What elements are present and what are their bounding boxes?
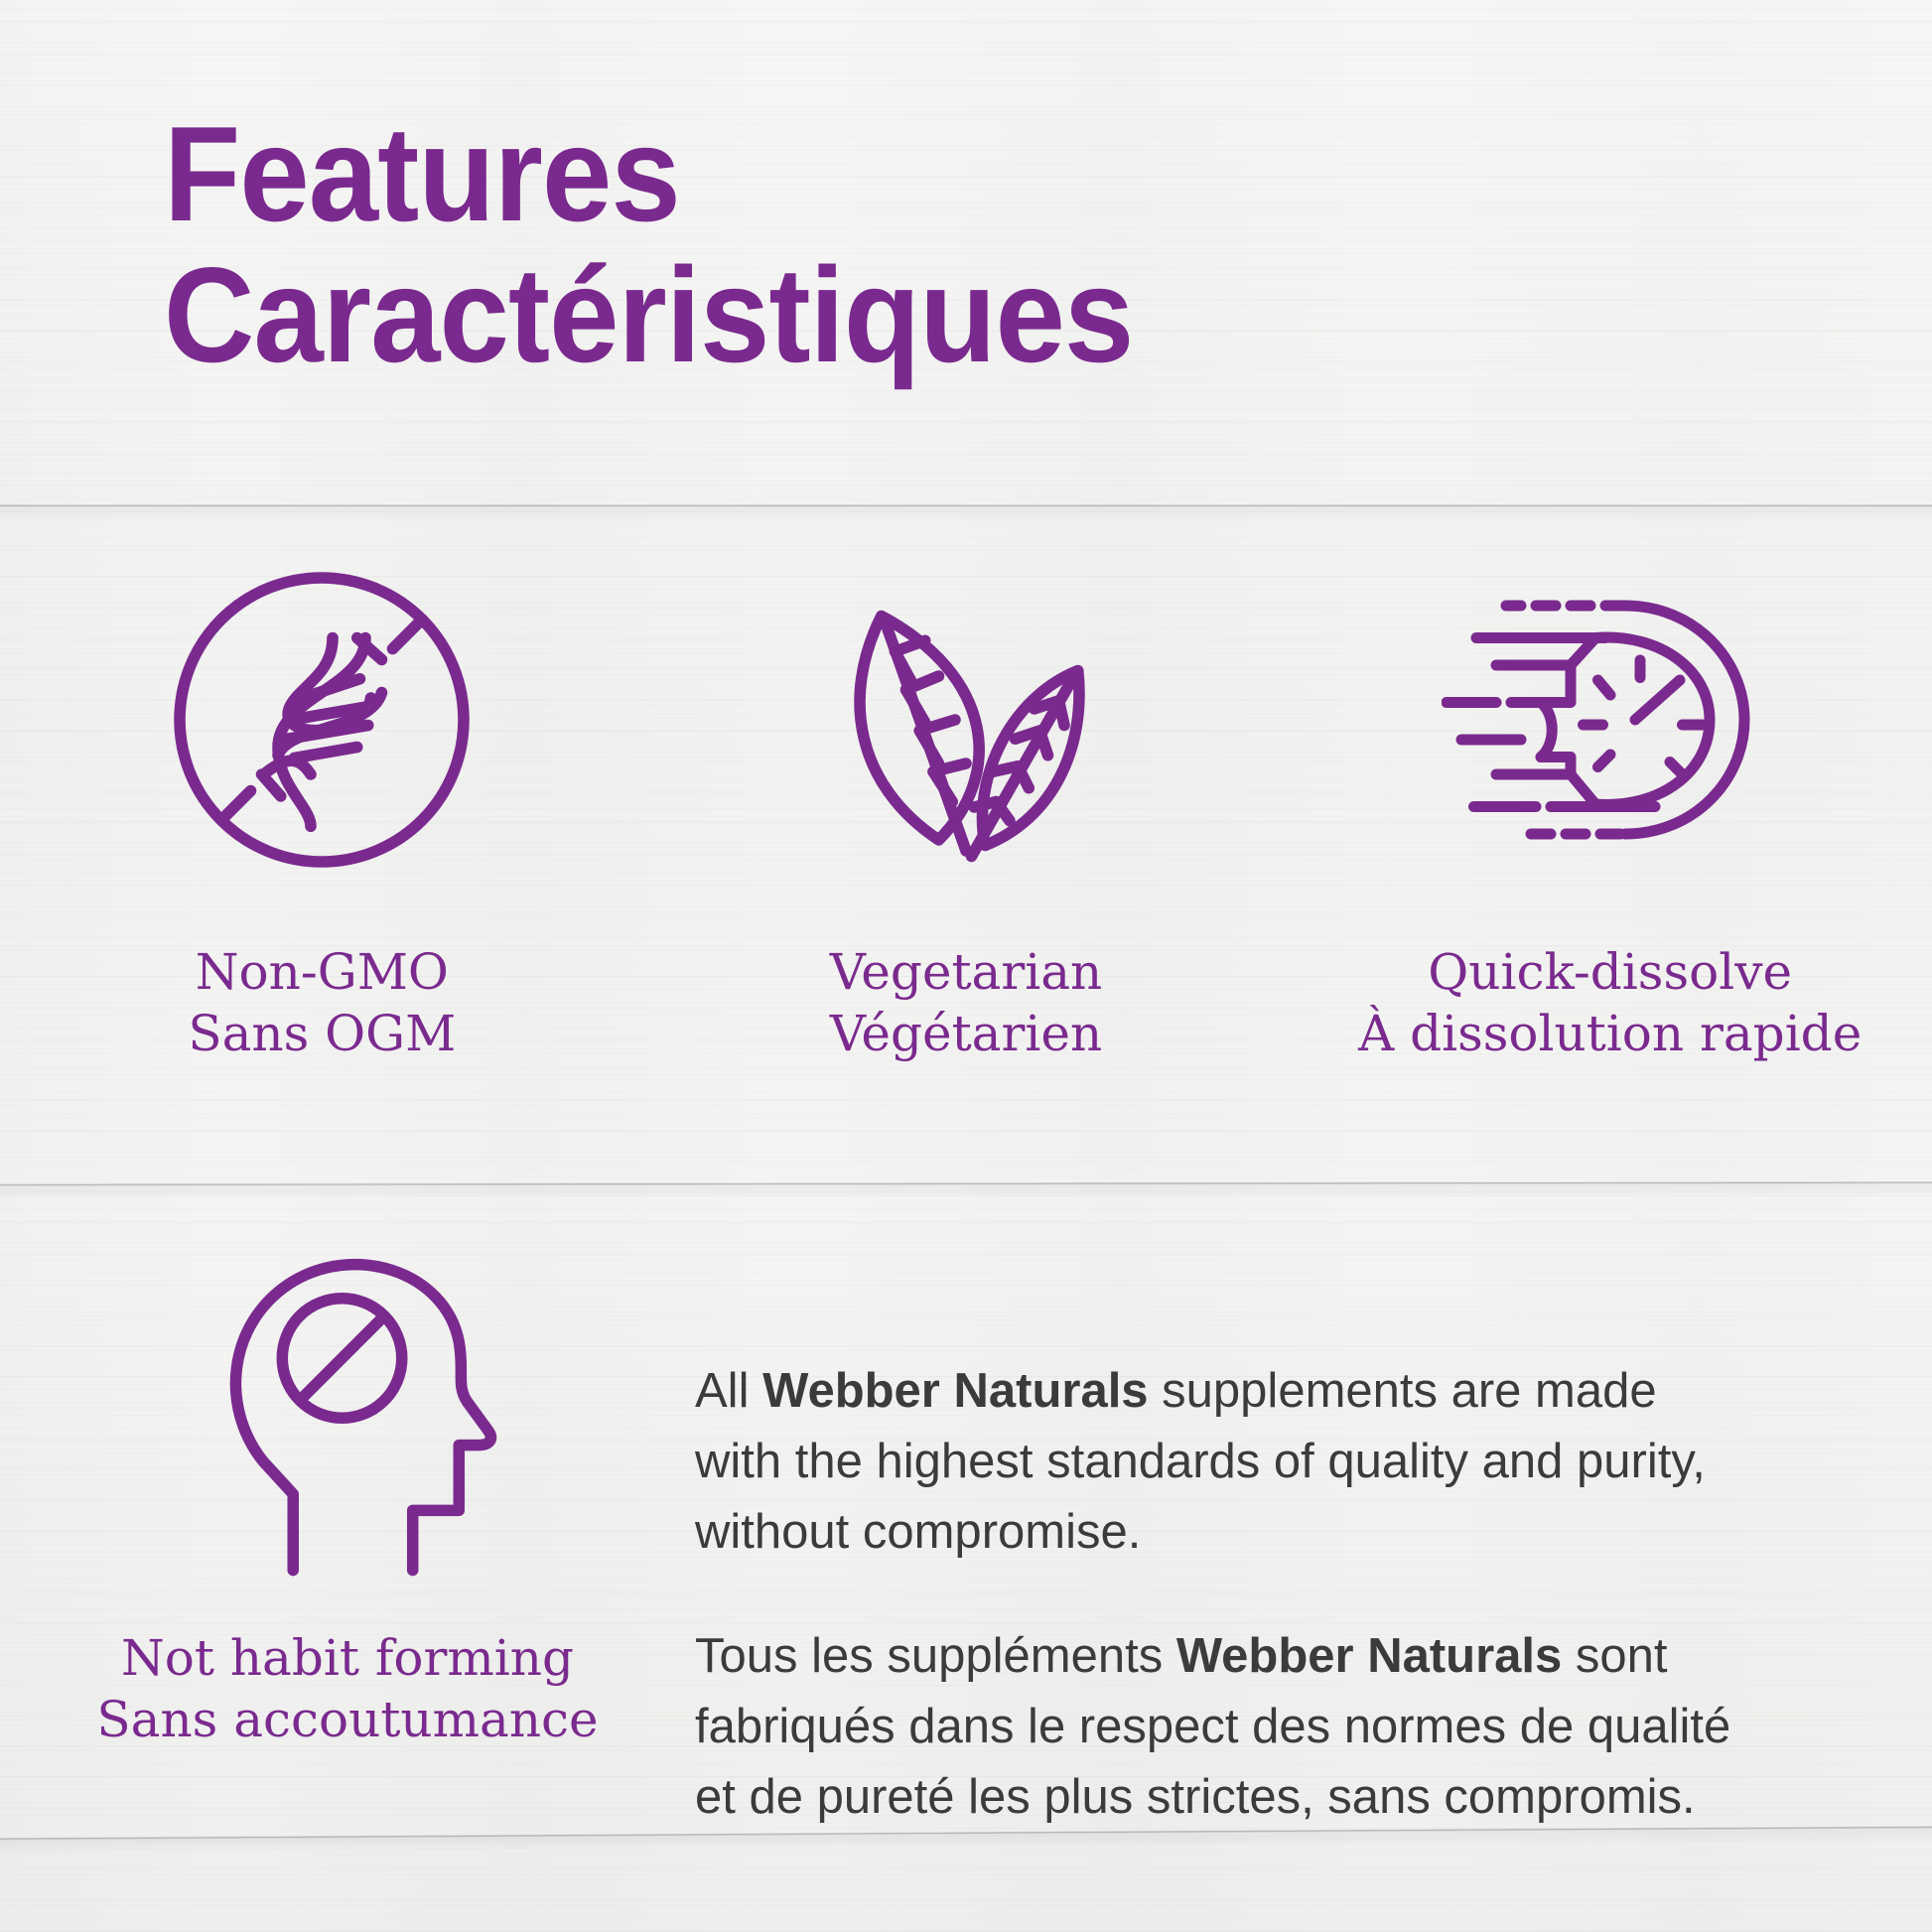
plank-seam-middle [0,1181,1932,1189]
feature-label-not-habit-forming: Not habit forming Sans accoutumance [96,1627,598,1750]
feature-vegetarian: Vegetarian Végétarien [644,556,1289,1064]
page-title-en: Features [164,103,1456,244]
feature-row: Non-GMO Sans OGM [0,556,1932,1064]
feature-quick-dissolve: Quick-dissolve À dissolution rapide [1288,556,1932,1064]
feature-label-quick-dissolve: Quick-dissolve À dissolution rapide [1358,941,1862,1064]
no-gmo-dna-icon [158,556,485,884]
feature-label-fr: Sans OGM [188,1003,456,1064]
feature-label-en: Quick-dissolve [1358,941,1862,1003]
description-fr-before: Tous les suppléments [695,1629,1176,1683]
description-fr: Tous les suppléments Webber Naturals son… [695,1621,1747,1833]
feature-label-en: Non-GMO [188,941,456,1003]
plank-seam-top [0,504,1932,510]
feature-label-en: Not habit forming [96,1627,598,1689]
feature-label-fr: Végétarien [830,1003,1103,1064]
leaves-icon [802,556,1130,884]
bottom-section: Not habit forming Sans accoutumance All … [0,1226,1932,1881]
feature-label-non-gmo: Non-GMO Sans OGM [188,941,456,1064]
page-title-fr: Caractéristiques [164,244,1456,385]
description-en-before: All [695,1364,762,1418]
fast-clock-icon [1442,556,1779,884]
description-block: All Webber Naturals supplements are made… [695,1226,1866,1881]
feature-label-fr: Sans accoutumance [96,1689,598,1750]
page-title: Features Caractéristiques [164,103,1554,385]
feature-not-habit-forming: Not habit forming Sans accoutumance [0,1226,695,1750]
brand-name-fr: Webber Naturals [1176,1629,1562,1683]
brand-name-en: Webber Naturals [762,1364,1148,1418]
feature-label-vegetarian: Vegetarian Végétarien [830,941,1103,1064]
feature-infographic-page: Features Caractéristiques [0,0,1932,1932]
feature-label-fr: À dissolution rapide [1358,1003,1862,1064]
feature-non-gmo: Non-GMO Sans OGM [0,556,644,1064]
head-no-symbol-icon [184,1246,511,1584]
description-en: All Webber Naturals supplements are made… [695,1356,1747,1568]
feature-label-en: Vegetarian [830,941,1103,1003]
